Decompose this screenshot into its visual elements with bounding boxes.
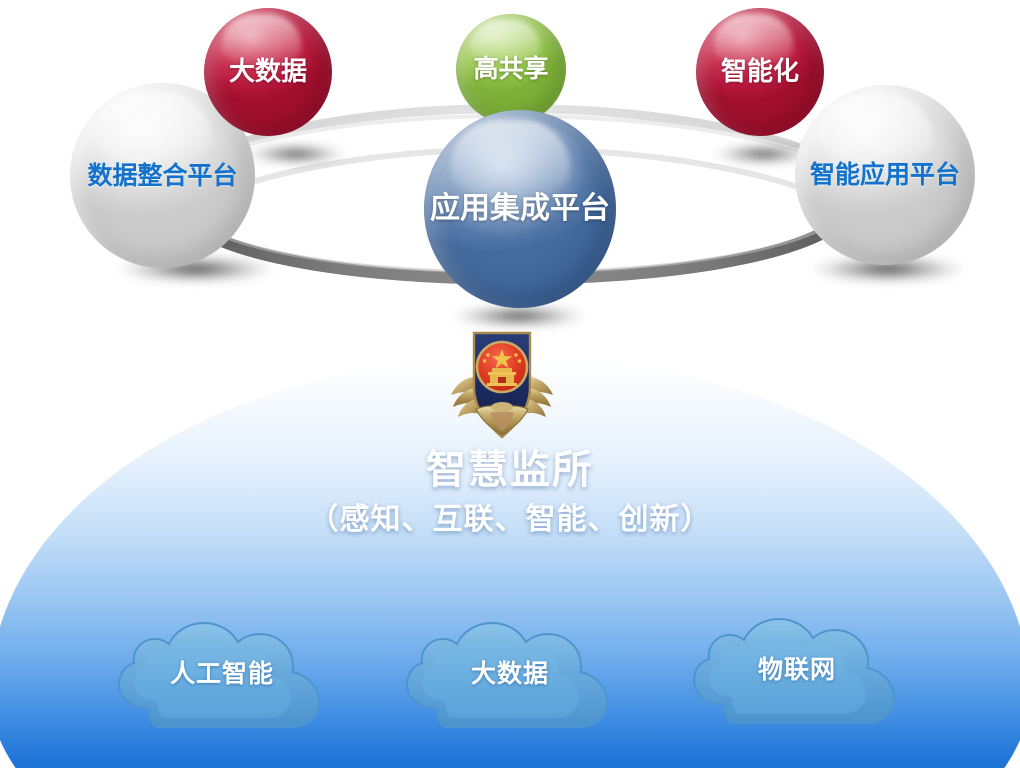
technology-artificial-intelligence[interactable]: 人工智能 [97,612,347,732]
cloud-shape [97,612,347,732]
cloud-shape [672,608,922,728]
technology-big-data-cloud[interactable]: 大数据 [385,612,635,732]
technology-clouds: 人工智能 大数据 物联网 [0,0,1020,768]
technology-internet-of-things[interactable]: 物联网 [672,608,922,728]
cloud-shape [385,612,635,732]
diagram-canvas: 数据整合平台 大数据 高共享 智能化 智能应用平台 应用集成平台 [0,0,1020,768]
